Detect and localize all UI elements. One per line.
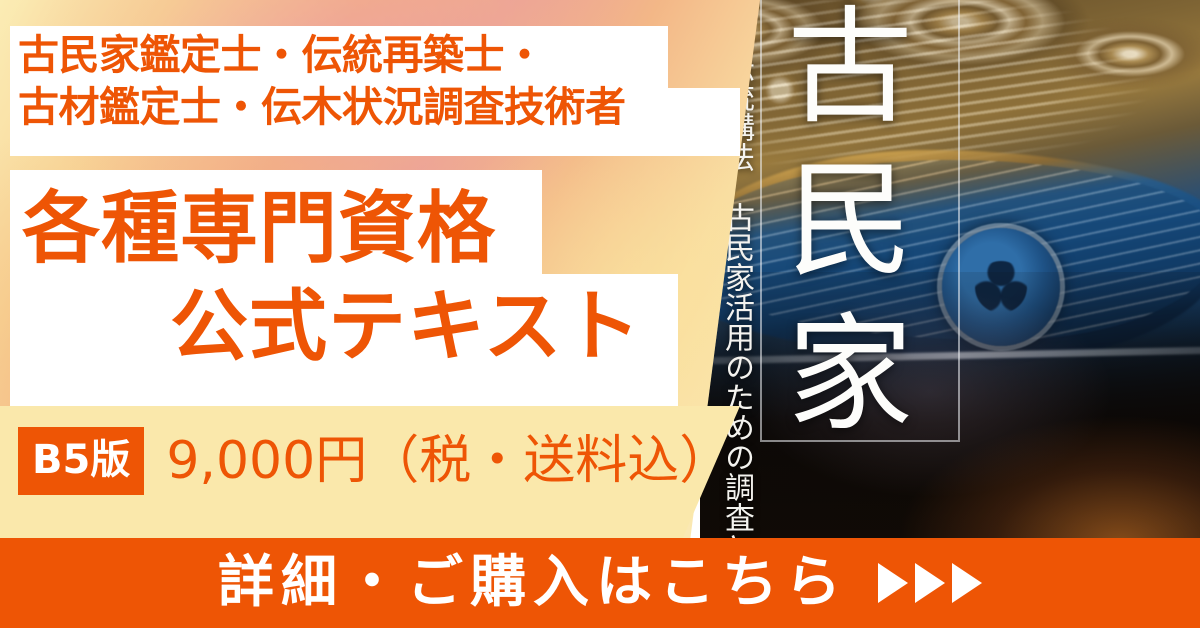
cta-arrows bbox=[878, 563, 982, 603]
cta-bar[interactable]: 詳細・ご購入はこちら bbox=[0, 538, 1200, 628]
promo-banner: 古 民 家 伝統構法 古民家活用のための調査と再生の 古民家鑑定士・伝統再築士・… bbox=[0, 0, 1200, 628]
price-row: B5版 9,000円（税・送料込） bbox=[18, 425, 731, 497]
book-cover-title-char-2: 民 bbox=[787, 161, 913, 284]
book-cover-photo bbox=[700, 0, 1200, 572]
book-cover-title-char-1: 古 bbox=[787, 8, 913, 131]
triangle-right-icon bbox=[878, 563, 908, 603]
cta-label: 詳細・ご購入はこちら bbox=[218, 555, 848, 611]
headline-line-1: 各種専門資格 bbox=[22, 190, 496, 268]
certifications-text: 古民家鑑定士・伝統再築士・ 古材鑑定士・伝木状況調査技術者 bbox=[18, 30, 730, 133]
book-cover-title-char-3: 家 bbox=[787, 315, 913, 438]
headline-line-2: 公式テキスト bbox=[170, 288, 642, 366]
certifications-line-1: 古民家鑑定士・伝統再築士・ bbox=[18, 30, 730, 82]
triangle-right-icon bbox=[915, 563, 945, 603]
price-amount: 9,000円（税・送料込） bbox=[166, 435, 731, 487]
triangle-right-icon bbox=[952, 563, 982, 603]
size-badge: B5版 bbox=[18, 427, 144, 495]
book-cover-title: 古 民 家 bbox=[780, 8, 920, 438]
certifications-line-2: 古材鑑定士・伝木状況調査技術者 bbox=[18, 82, 730, 134]
